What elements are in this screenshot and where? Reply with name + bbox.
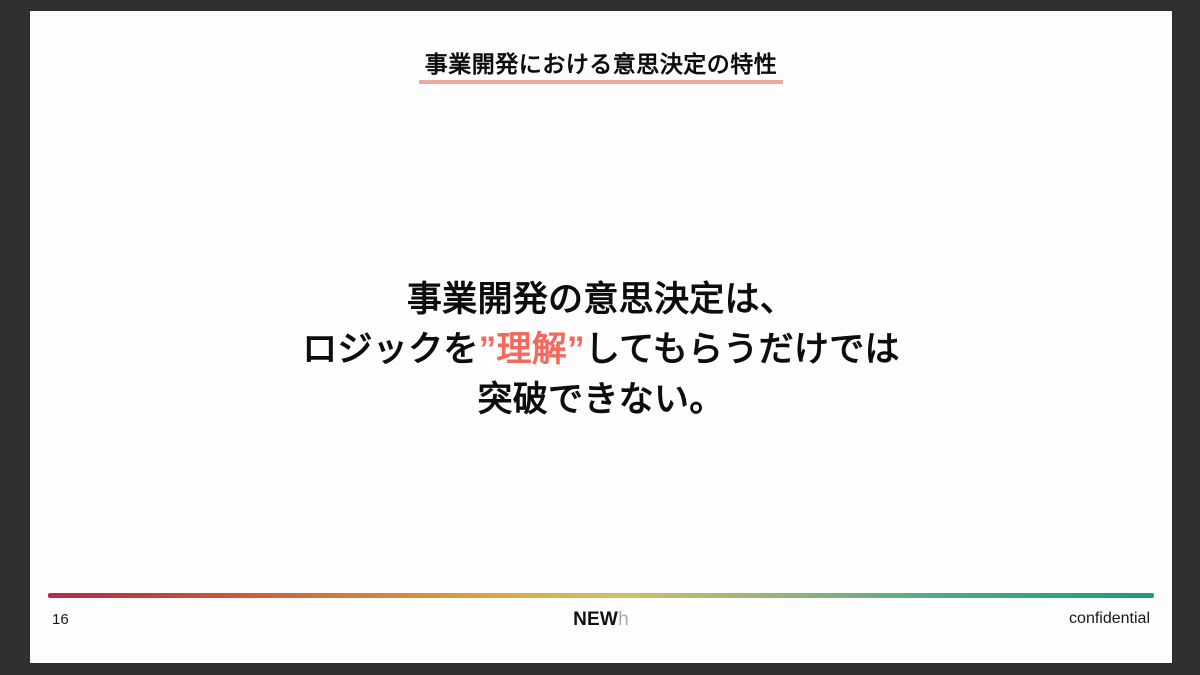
page-title-text: 事業開発における意思決定の特性 bbox=[425, 51, 778, 77]
statement-line: ロジックを”理解”してもらうだけでは bbox=[30, 325, 1172, 375]
statement-block: 事業開発の意思決定は、ロジックを”理解”してもらうだけでは突破できない。 bbox=[30, 275, 1172, 425]
page-title: 事業開発における意思決定の特性 bbox=[419, 45, 784, 84]
slide-header: 事業開発における意思決定の特性 bbox=[30, 45, 1172, 84]
statement-line: 事業開発の意思決定は、 bbox=[30, 275, 1172, 325]
brand-logo-primary: NEW bbox=[573, 609, 618, 630]
confidential-label: confidential bbox=[1069, 610, 1150, 628]
statement-line: 突破できない。 bbox=[30, 375, 1172, 425]
statement-text: 突破できない。 bbox=[477, 380, 724, 419]
slide-canvas: 事業開発における意思決定の特性 事業開発の意思決定は、ロジックを”理解”してもら… bbox=[30, 11, 1172, 663]
statement-accent-text: ”理解” bbox=[479, 330, 585, 369]
slide-viewer: { "slide": { "title": "事業開発における意思決定の特性",… bbox=[0, 0, 1200, 675]
gradient-rule bbox=[48, 593, 1154, 598]
statement-text: ロジックを bbox=[302, 330, 479, 369]
statement-text: してもらうだけでは bbox=[585, 330, 900, 369]
brand-logo-secondary: h bbox=[618, 609, 629, 630]
statement-text: 事業開発の意思決定は、 bbox=[407, 280, 795, 319]
brand-logo: NEWh bbox=[30, 609, 1172, 631]
title-underline bbox=[419, 80, 784, 84]
slide-footer: 16 NEWh confidential bbox=[30, 593, 1172, 663]
